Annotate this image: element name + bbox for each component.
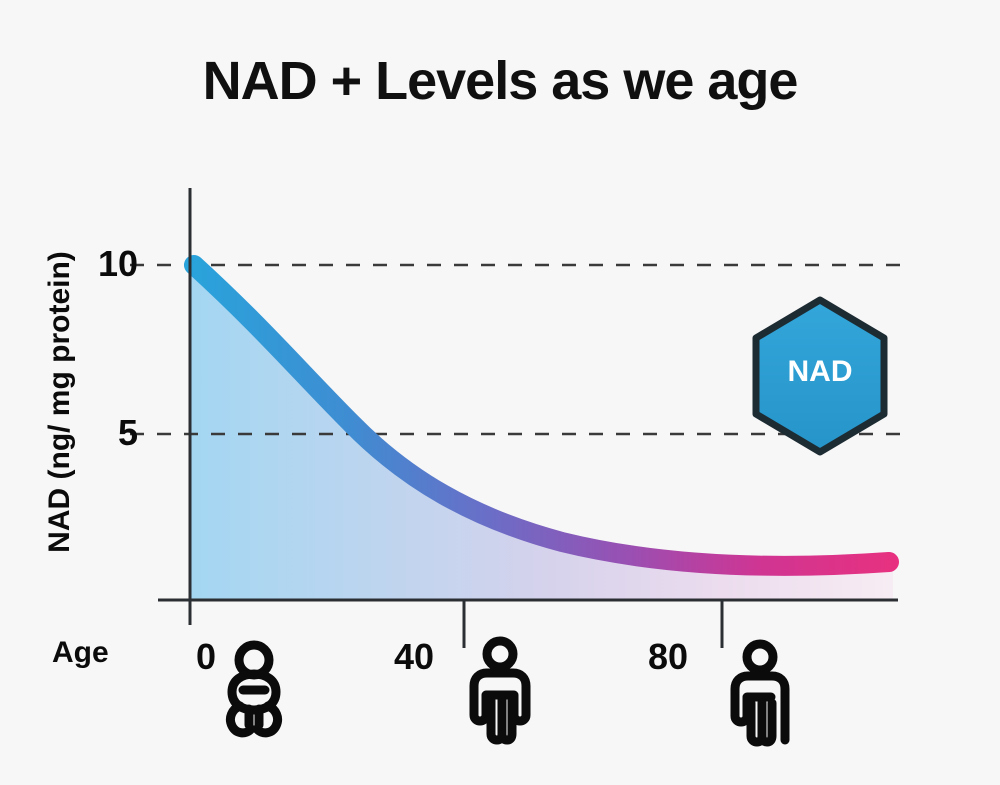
nad-levels-chart [0,0,1000,785]
chart-title: NAD + Levels as we age [0,50,1000,112]
x-tick-label-80: 80 [648,636,688,678]
x-tick-label-0: 0 [196,636,216,678]
y-tick-label-5: 5 [118,412,138,454]
y-tick-label-10: 10 [98,243,138,285]
x-axis-title: Age [52,636,109,670]
y-axis-title: NAD (ng/ mg protein) [43,192,77,612]
x-tick-label-40: 40 [394,636,434,678]
nad-hexagon-badge[interactable] [756,300,884,452]
